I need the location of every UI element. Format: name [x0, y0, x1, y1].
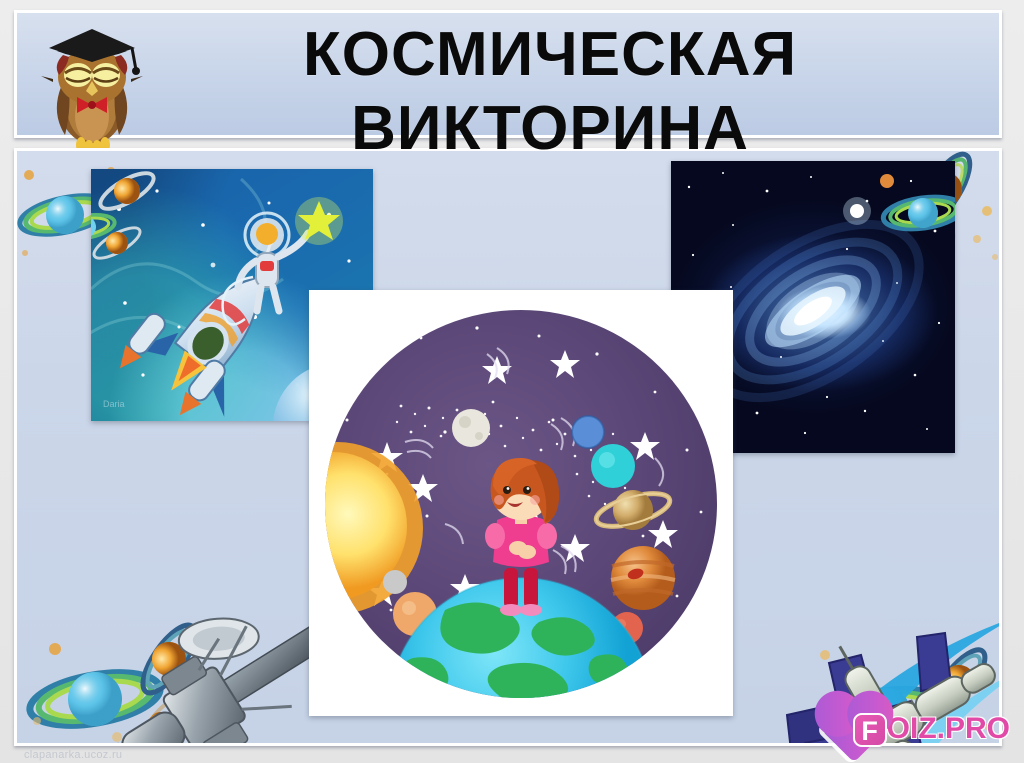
watermark-foiz-pro: F OIZ.PRO — [827, 701, 1010, 757]
svg-text:Daria: Daria — [103, 399, 125, 409]
cosmos-circle — [325, 310, 717, 698]
title-line-2: ВИКТОРИНА — [200, 92, 900, 166]
picture-card-cosmos — [309, 290, 733, 716]
watermark-text: OIZ.PRO — [887, 712, 1010, 746]
satellite-icon — [79, 603, 331, 746]
content-panel: Daria — [14, 148, 1002, 746]
cosmos-sun — [325, 442, 423, 614]
page-title: КОСМИЧЕСКАЯ ВИКТОРИНА — [200, 18, 900, 166]
cosmos-planet-moon — [452, 409, 490, 447]
watermark-letter: F — [853, 713, 887, 747]
heart-icon: F — [827, 701, 889, 757]
title-line-1: КОСМИЧЕСКАЯ — [303, 20, 797, 89]
owl-logo-icon — [37, 21, 147, 156]
cosmos-planet-mercury — [383, 570, 407, 594]
cosmos-earth — [389, 578, 653, 698]
source-credit: clapanarka.ucoz.ru — [24, 749, 122, 761]
cosmos-planet-uranus — [591, 444, 635, 488]
cosmos-planet-jupiter — [611, 546, 675, 610]
slide-canvas: КОСМИЧЕСКАЯ ВИКТОРИНА — [0, 0, 1024, 763]
